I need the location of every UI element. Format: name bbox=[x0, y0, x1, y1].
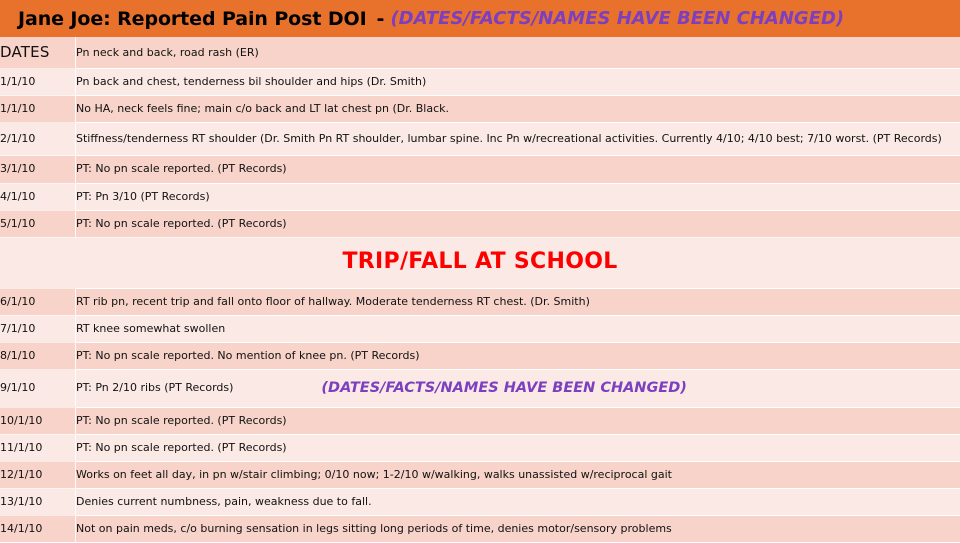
table-cell-note: Works on feet all day, in pn w/stair cli… bbox=[76, 461, 960, 488]
table-row: 3/1/10 PT: No pn scale reported. (PT Rec… bbox=[0, 156, 960, 183]
table-row: DATES Pn neck and back, road rash (ER) bbox=[0, 37, 960, 69]
table-cell-note: PT: No pn scale reported. (PT Records) bbox=[76, 407, 960, 434]
pain-timeline-table: DATES Pn neck and back, road rash (ER) 1… bbox=[0, 37, 960, 543]
table-cell-date: 5/1/10 bbox=[0, 210, 76, 237]
table-row: 14/1/10 Not on pain meds, c/o burning se… bbox=[0, 515, 960, 542]
table-cell-date: 13/1/10 bbox=[0, 488, 76, 515]
table-cell-date: 8/1/10 bbox=[0, 342, 76, 369]
table-cell-note: Pn neck and back, road rash (ER) bbox=[76, 37, 960, 69]
table-cell-note: Not on pain meds, c/o burning sensation … bbox=[76, 515, 960, 542]
table-row: 4/1/10 PT: Pn 3/10 (PT Records) bbox=[0, 183, 960, 210]
table-cell-note: PT: Pn 3/10 (PT Records) bbox=[76, 183, 960, 210]
table-cell-date: 9/1/10 bbox=[0, 370, 76, 408]
table-cell-date: 10/1/10 bbox=[0, 407, 76, 434]
table-cell-date: 7/1/10 bbox=[0, 315, 76, 342]
table-cell-date: 3/1/10 bbox=[0, 156, 76, 183]
table-cell-date: 14/1/10 bbox=[0, 515, 76, 542]
table-cell-note: PT: No pn scale reported. (PT Records) bbox=[76, 156, 960, 183]
table-cell-date: 6/1/10 bbox=[0, 288, 76, 315]
table-row: 5/1/10 PT: No pn scale reported. (PT Rec… bbox=[0, 210, 960, 237]
header-disclaimer: (DATES/FACTS/NAMES HAVE BEEN CHANGED) bbox=[390, 8, 844, 29]
table-row: 7/1/10 RT knee somewhat swollen bbox=[0, 315, 960, 342]
table-row: 12/1/10 Works on feet all day, in pn w/s… bbox=[0, 461, 960, 488]
table-cell-date: 12/1/10 bbox=[0, 461, 76, 488]
table-cell-note: PT: No pn scale reported. (PT Records) bbox=[76, 434, 960, 461]
table-row: 2/1/10 Stiffness/tenderness RT shoulder … bbox=[0, 123, 960, 156]
table-row: 11/1/10 PT: No pn scale reported. (PT Re… bbox=[0, 434, 960, 461]
table-cell-note: Stiffness/tenderness RT shoulder (Dr. Sm… bbox=[76, 123, 960, 156]
slide-header-bar: Jane Joe: Reported Pain Post DOI - (DATE… bbox=[0, 0, 960, 37]
table-row: 9/1/10 PT: Pn 2/10 ribs (PT Records) (DA… bbox=[0, 370, 960, 408]
table-row: 8/1/10 PT: No pn scale reported. No ment… bbox=[0, 342, 960, 369]
table-cell-date: 2/1/10 bbox=[0, 123, 76, 156]
table-cell-date: 1/1/10 bbox=[0, 69, 76, 96]
table-cell-note-text: PT: Pn 2/10 ribs (PT Records) bbox=[76, 381, 233, 395]
table-cell-date: 1/1/10 bbox=[0, 96, 76, 123]
section-banner-row: TRIP/FALL AT SCHOOL bbox=[0, 237, 960, 288]
table-row: 1/1/10 No HA, neck feels fine; main c/o … bbox=[0, 96, 960, 123]
section-banner-text: TRIP/FALL AT SCHOOL bbox=[342, 249, 617, 274]
table-row: 6/1/10 RT rib pn, recent trip and fall o… bbox=[0, 288, 960, 315]
page-title: Jane Joe: Reported Pain Post DOI bbox=[18, 8, 367, 30]
table-cell-date: 11/1/10 bbox=[0, 434, 76, 461]
table-cell-note: PT: No pn scale reported. No mention of … bbox=[76, 342, 960, 369]
table-cell-note: Pn back and chest, tenderness bil should… bbox=[76, 69, 960, 96]
table-row: 10/1/10 PT: No pn scale reported. (PT Re… bbox=[0, 407, 960, 434]
inline-disclaimer: (DATES/FACTS/NAMES HAVE BEEN CHANGED) bbox=[321, 379, 687, 398]
table-cell-note: RT rib pn, recent trip and fall onto flo… bbox=[76, 288, 960, 315]
table-row: 1/1/10 Pn back and chest, tenderness bil… bbox=[0, 69, 960, 96]
table-row: 13/1/10 Denies current numbness, pain, w… bbox=[0, 488, 960, 515]
table-cell-note: PT: No pn scale reported. (PT Records) bbox=[76, 210, 960, 237]
section-banner-cell: TRIP/FALL AT SCHOOL bbox=[0, 237, 960, 288]
table-cell-date: 4/1/10 bbox=[0, 183, 76, 210]
table-cell-note: RT knee somewhat swollen bbox=[76, 315, 960, 342]
header-dash-separator: - bbox=[377, 8, 385, 30]
table-cell-note: Denies current numbness, pain, weakness … bbox=[76, 488, 960, 515]
column-header-dates: DATES bbox=[0, 37, 76, 69]
table-cell-note: No HA, neck feels fine; main c/o back an… bbox=[76, 96, 960, 123]
table-cell-note: PT: Pn 2/10 ribs (PT Records) (DATES/FAC… bbox=[76, 370, 960, 408]
